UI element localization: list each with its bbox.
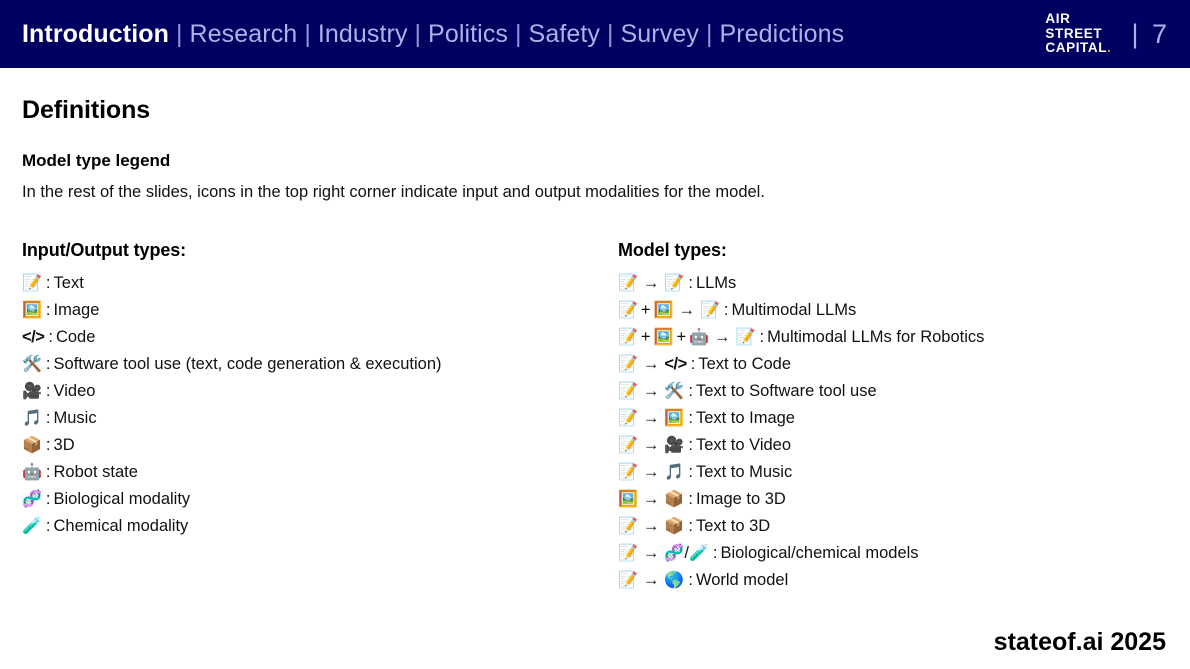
arrow-symbol: → xyxy=(638,490,665,509)
nav-item-introduction[interactable]: Introduction xyxy=(22,20,169,49)
memo-icon: 📝 xyxy=(736,330,756,346)
memo-icon: 📝 xyxy=(618,303,638,319)
nav-separator: | xyxy=(408,20,429,49)
nav-separator: | xyxy=(508,20,529,49)
logo-line-2: STREET xyxy=(1045,27,1111,42)
colon-separator: : xyxy=(42,436,54,455)
dna-icon: 🧬 xyxy=(664,546,684,562)
model-type-label: Text to Software tool use xyxy=(696,382,877,401)
io-type-row: 🤖: Robot state xyxy=(22,459,442,486)
io-type-row: 🛠️ : Software tool use (text, code gener… xyxy=(22,351,442,378)
model-type-label: Multimodal LLMs xyxy=(732,301,857,320)
musical-note-icon: 🎵 xyxy=(664,465,684,481)
io-type-label: Biological modality xyxy=(54,490,191,509)
io-type-label: Video xyxy=(54,382,96,401)
io-type-label: Text xyxy=(54,274,84,293)
arrow-symbol: → xyxy=(638,274,665,293)
package-icon: 📦 xyxy=(664,492,684,508)
io-type-label: Music xyxy=(54,409,97,428)
model-type-label: LLMs xyxy=(696,274,736,293)
colon-separator: : xyxy=(42,274,54,293)
hammer-and-wrench-icon: 🛠️ xyxy=(22,357,42,373)
colon-separator: : xyxy=(684,571,696,590)
io-type-row: 📝: Text xyxy=(22,270,442,297)
arrow-symbol: → xyxy=(638,463,665,482)
model-type-row: 📝→</> : Text to Code xyxy=(618,351,984,378)
colon-separator: : xyxy=(684,463,696,482)
colon-separator: : xyxy=(42,517,54,536)
colon-separator: : xyxy=(684,490,696,509)
movie-camera-icon: 🎥 xyxy=(22,384,42,400)
framed-picture-icon: 🖼️ xyxy=(654,330,674,346)
io-type-row: 📦: 3D xyxy=(22,432,442,459)
io-type-row: </> : Code xyxy=(22,324,442,351)
test-tube-icon: 🧪 xyxy=(689,546,709,562)
logo-line-3: CAPITAL. xyxy=(1045,41,1111,56)
nav-item-safety[interactable]: Safety xyxy=(529,20,600,49)
arrow-symbol: → xyxy=(638,544,665,563)
memo-icon: 📝 xyxy=(618,330,638,346)
memo-icon: 📝 xyxy=(618,573,638,589)
colon-separator: : xyxy=(42,301,54,320)
model-type-label: Text to Music xyxy=(696,463,792,482)
colon-separator: : xyxy=(687,355,699,374)
package-icon: 📦 xyxy=(664,519,684,535)
memo-icon: 📝 xyxy=(618,357,638,373)
framed-picture-icon: 🖼️ xyxy=(664,411,684,427)
io-type-label: Chemical modality xyxy=(54,517,189,536)
io-type-row: 🖼️: Image xyxy=(22,297,442,324)
model-type-label: Biological/chemical models xyxy=(720,544,918,563)
model-type-row: 📝→🧬/🧪 : Biological/chemical models xyxy=(618,540,984,567)
model-types-column: Model types: 📝→📝 : LLMs📝+🖼️→📝 : Multimod… xyxy=(618,240,984,594)
dna-icon: 🧬 xyxy=(22,492,42,508)
slide-header: Introduction|Research|Industry|Politics|… xyxy=(0,0,1190,68)
io-type-label: Image xyxy=(54,301,100,320)
memo-icon: 📝 xyxy=(618,384,638,400)
plus-symbol: + xyxy=(673,328,689,347)
memo-icon: 📝 xyxy=(618,519,638,535)
colon-separator: : xyxy=(684,382,696,401)
plus-symbol: + xyxy=(638,328,654,347)
io-type-label: Robot state xyxy=(54,463,138,482)
model-type-row: 📝→🛠️ : Text to Software tool use xyxy=(618,378,984,405)
section-nav: Introduction|Research|Industry|Politics|… xyxy=(22,20,844,49)
colon-separator: : xyxy=(42,490,54,509)
arrow-symbol: → xyxy=(638,436,665,455)
memo-icon: 📝 xyxy=(618,411,638,427)
io-type-row: 🎵: Music xyxy=(22,405,442,432)
colon-separator: : xyxy=(44,328,56,347)
logo-line-1: AIR xyxy=(1045,12,1111,27)
arrow-symbol: → xyxy=(638,409,665,428)
io-type-row: 🎥 : Video xyxy=(22,378,442,405)
memo-icon: 📝 xyxy=(664,276,684,292)
arrow-symbol: → xyxy=(638,571,665,590)
io-type-label: Software tool use (text, code generation… xyxy=(54,355,442,374)
robot-icon: 🤖 xyxy=(689,330,709,346)
model-type-label: Multimodal LLMs for Robotics xyxy=(767,328,984,347)
colon-separator: : xyxy=(42,463,54,482)
code-icon: </> xyxy=(22,329,44,346)
model-type-row: 📝→📝 : LLMs xyxy=(618,270,984,297)
memo-icon: 📝 xyxy=(22,276,42,292)
arrow-symbol: → xyxy=(638,355,665,374)
footer-brand: stateof.ai 2025 xyxy=(994,628,1166,657)
arrow-symbol: → xyxy=(709,328,736,347)
nav-separator: | xyxy=(600,20,621,49)
model-type-label: Text to 3D xyxy=(696,517,770,536)
model-type-row: 📝→🎥 : Text to Video xyxy=(618,432,984,459)
page-number: | 7 xyxy=(1131,19,1170,50)
memo-icon: 📝 xyxy=(618,546,638,562)
colon-separator: : xyxy=(42,355,54,374)
framed-picture-icon: 🖼️ xyxy=(654,303,674,319)
model-type-row: 📝+🖼️+🤖→📝 : Multimodal LLMs for Robotics xyxy=(618,324,984,351)
colon-separator: : xyxy=(684,409,696,428)
arrow-symbol: → xyxy=(638,517,665,536)
code-icon: </> xyxy=(664,356,686,373)
model-type-label: Text to Image xyxy=(696,409,795,428)
nav-item-survey[interactable]: Survey xyxy=(621,20,699,49)
io-type-row: 🧬: Biological modality xyxy=(22,486,442,513)
memo-icon: 📝 xyxy=(700,303,720,319)
colon-separator: : xyxy=(709,544,721,563)
header-right-group: AIR STREET CAPITAL. | 7 xyxy=(1045,0,1176,68)
memo-icon: 📝 xyxy=(618,465,638,481)
colon-separator: : xyxy=(684,436,696,455)
io-type-row: 🧪: Chemical modality xyxy=(22,513,442,540)
logo-line-3-text: CAPITAL xyxy=(1045,40,1107,55)
model-type-label: Image to 3D xyxy=(696,490,786,509)
arrow-symbol: → xyxy=(638,382,665,401)
memo-icon: 📝 xyxy=(618,438,638,454)
colon-separator: : xyxy=(684,517,696,536)
model-type-row: 🖼️→📦 : Image to 3D xyxy=(618,486,984,513)
input-output-types-heading: Input/Output types: xyxy=(22,240,442,261)
framed-picture-icon: 🖼️ xyxy=(22,303,42,319)
model-type-row: 📝+🖼️→📝 : Multimodal LLMs xyxy=(618,297,984,324)
hammer-and-wrench-icon: 🛠️ xyxy=(664,384,684,400)
io-type-label: Code xyxy=(56,328,95,347)
input-output-types-column: Input/Output types: 📝: Text🖼️: Image</> … xyxy=(22,240,442,540)
memo-icon: 📝 xyxy=(618,276,638,292)
nav-item-predictions[interactable]: Predictions xyxy=(719,20,844,49)
model-types-list: 📝→📝 : LLMs📝+🖼️→📝 : Multimodal LLMs📝+🖼️+🤖… xyxy=(618,270,984,594)
nav-separator: | xyxy=(297,20,318,49)
nav-separator: | xyxy=(699,20,720,49)
plus-symbol: + xyxy=(638,301,654,320)
framed-picture-icon: 🖼️ xyxy=(618,492,638,508)
page-title: Definitions xyxy=(22,96,150,125)
nav-separator: | xyxy=(169,20,190,49)
robot-icon: 🤖 xyxy=(22,465,42,481)
colon-separator: : xyxy=(42,382,54,401)
package-icon: 📦 xyxy=(22,438,42,454)
model-type-row: 📝→🎵 : Text to Music xyxy=(618,459,984,486)
test-tube-icon: 🧪 xyxy=(22,519,42,535)
colon-separator: : xyxy=(42,409,54,428)
nav-item-industry[interactable]: Industry xyxy=(318,20,408,49)
musical-note-icon: 🎵 xyxy=(22,411,42,427)
section-description: In the rest of the slides, icons in the … xyxy=(22,183,765,202)
nav-item-research[interactable]: Research xyxy=(190,20,298,49)
movie-camera-icon: 🎥 xyxy=(664,438,684,454)
air-street-capital-logo: AIR STREET CAPITAL. xyxy=(1045,12,1111,56)
section-subtitle: Model type legend xyxy=(22,151,170,171)
model-type-row: 📝→📦 : Text to 3D xyxy=(618,513,984,540)
model-type-label: Text to Video xyxy=(696,436,791,455)
model-type-row: 📝→🖼️ : Text to Image xyxy=(618,405,984,432)
colon-separator: : xyxy=(684,274,696,293)
input-output-types-list: 📝: Text🖼️: Image</> : Code🛠️ : Software … xyxy=(22,270,442,540)
model-type-label: Text to Code xyxy=(698,355,791,374)
model-type-label: World model xyxy=(696,571,788,590)
arrow-symbol: → xyxy=(673,301,700,320)
globe-icon: 🌎 xyxy=(664,573,684,589)
model-type-row: 📝→🌎 : World model xyxy=(618,567,984,594)
colon-separator: : xyxy=(720,301,732,320)
io-type-label: 3D xyxy=(54,436,75,455)
nav-item-politics[interactable]: Politics xyxy=(428,20,508,49)
model-types-heading: Model types: xyxy=(618,240,984,261)
colon-separator: : xyxy=(755,328,767,347)
logo-dot: . xyxy=(1107,40,1111,55)
